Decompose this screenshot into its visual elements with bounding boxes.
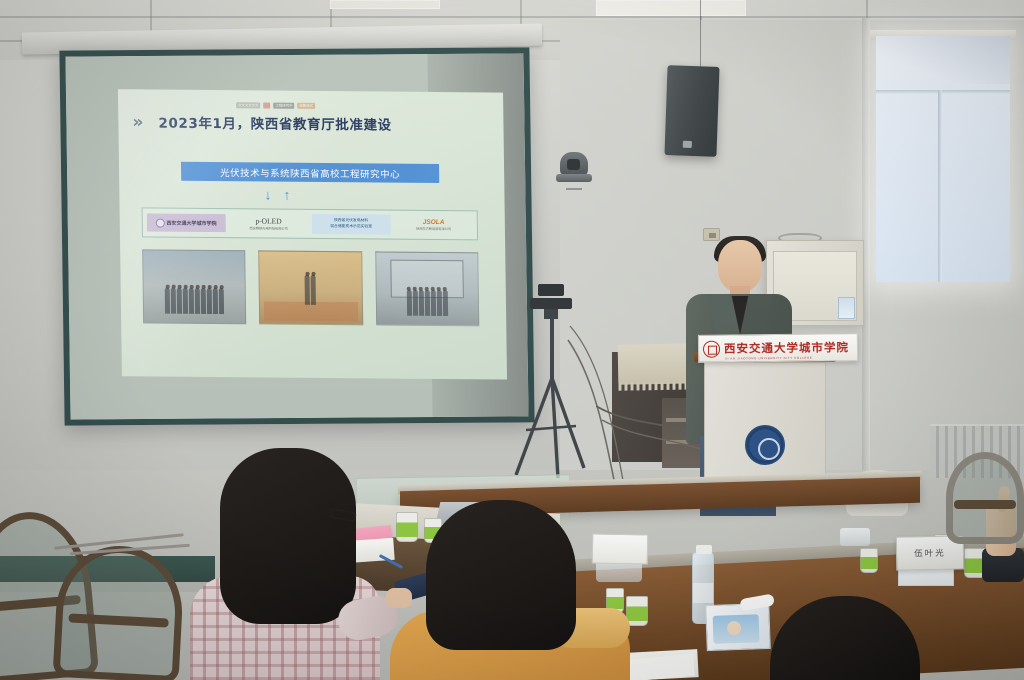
chair-left-2	[53, 543, 186, 680]
attendee-foreground-hair	[770, 596, 920, 680]
podium-seal-icon	[703, 340, 720, 357]
cabinet-label	[838, 297, 855, 319]
attendee-mustard-coat	[400, 500, 610, 680]
logo-poled-sub: 西安畅耕光电科技有限公司	[249, 225, 287, 230]
glass-stack	[840, 528, 870, 546]
tissue-box	[705, 603, 771, 651]
ceiling-light	[596, 0, 746, 16]
podium-nameboard: 西安交通大学城市学院 XI'AN JIAOTONG UNIVERSITY CIT…	[698, 333, 858, 363]
attendee-pink-hair	[220, 448, 356, 624]
slide-logo-strip: 西安交通大学城市学院 p-OLED 西安畅耕光电科技有限公司 陕西省光伏发电材料…	[142, 207, 478, 240]
name-card-text: 伍叶光	[914, 547, 946, 560]
university-emblem-icon	[745, 425, 785, 465]
slide-photo-3	[375, 251, 479, 326]
slide-photo-row	[142, 249, 479, 326]
toolbar-chip-3: 工程研究中	[273, 102, 294, 108]
slide-center-banner: 光伏技术与系统陕西省高校工程研究中心	[181, 162, 439, 183]
projection-screen: 文文文文文文 工程研究中 投影模式 ❑ 审阅 › 显示模式 切换 » 2023年…	[59, 47, 534, 425]
presenter-head	[718, 240, 762, 292]
logo-poled-label: p-OLED	[255, 216, 281, 225]
arrow-down-icon: ↓	[264, 186, 271, 202]
logo-university: 西安交通大学城市学院	[147, 210, 226, 235]
logo-poled: p-OLED 西安畅耕光电科技有限公司	[229, 211, 308, 236]
arrow-up-icon: ↑	[283, 187, 290, 203]
logo-jsola-sub: 陕西东方新能源有限公司	[416, 226, 451, 231]
conference-room-photo: MITSUBISHI 文文文文文文 工程研究中 投影模式 ❑ 审阅 › 显示模式…	[0, 0, 1024, 680]
chevron-icon: »	[132, 112, 139, 132]
slide-arrows: ↓ ↑	[264, 186, 324, 203]
paper-cup-5	[860, 548, 878, 573]
side-panel-line-1: ❑ 审阅	[421, 114, 491, 121]
center-banner-text: 光伏技术与系统陕西省高校工程研究中心	[220, 165, 400, 181]
ceiling-light-2	[330, 0, 440, 9]
presenter-side-panel[interactable]: ❑ 审阅 › 显示模式 切换	[421, 114, 491, 137]
logo-university-label: 西安交通大学城市学院	[166, 219, 216, 226]
attendee-mustard-hair	[426, 500, 576, 650]
podium: 西安交通大学城市学院 XI'AN JIAOTONG UNIVERSITY CIT…	[694, 342, 836, 494]
presenter-toolbar[interactable]: 文文文文文文 工程研究中 投影模式	[236, 100, 396, 110]
window-shadow	[876, 36, 1010, 84]
podium-sign-chinese: 西安交通大学城市学院	[724, 339, 849, 356]
speaker-cable	[700, 0, 701, 70]
chair-right	[946, 452, 1024, 544]
slide-photo-2	[259, 250, 363, 325]
slide-title: 2023年1月，陕西省教育厅批准建设	[158, 112, 392, 134]
toolbar-chip-1: 文文文文文文	[236, 102, 260, 108]
attendee-foreground-head	[770, 596, 920, 680]
attendee-pink-tweed	[190, 448, 380, 680]
logo-lab: 陕西省光伏发电材料 混合储能技术示范实验室	[312, 212, 391, 237]
presentation-slide: 文文文文文文 工程研究中 投影模式 ❑ 审阅 › 显示模式 切换 » 2023年…	[118, 89, 507, 379]
wall-loudspeaker	[664, 65, 719, 157]
side-panel-line-2: › 显示模式 切换	[421, 125, 491, 132]
slide-photo-1	[142, 249, 246, 324]
toolbar-chip-2	[263, 102, 270, 108]
podium-sign-english: XI'AN JIAOTONG UNIVERSITY CITY COLLEGE	[725, 355, 812, 360]
ptz-camera-icon	[556, 152, 592, 186]
paper-cup-3	[626, 596, 648, 626]
logo-jsola: JSOLA 陕西东方新能源有限公司	[394, 213, 473, 238]
toolbar-chip-4: 投影模式	[297, 102, 315, 108]
logo-lab-line2: 混合储能技术示范实验室	[330, 224, 372, 230]
